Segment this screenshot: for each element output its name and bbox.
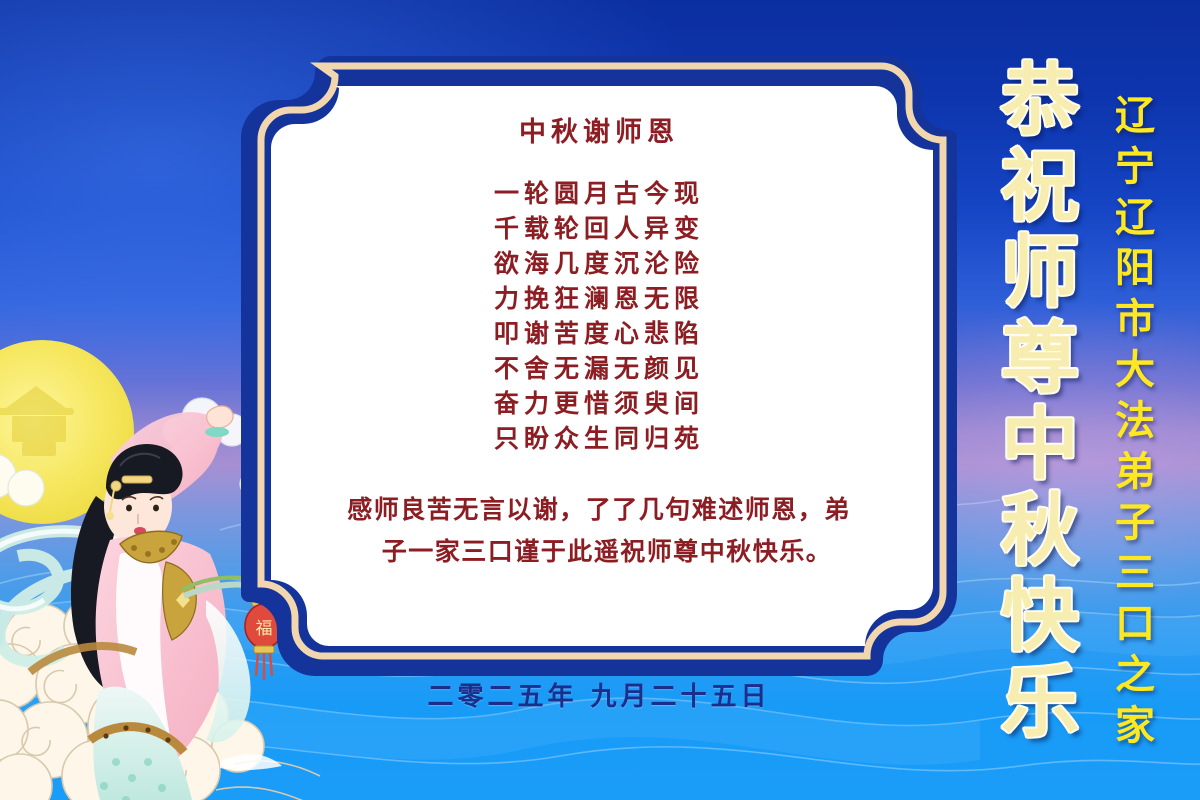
poem-line-1: 一轮圆月古今现	[494, 177, 704, 210]
poem-line-5: 叩谢苦度心悲陷	[494, 317, 704, 350]
sender-char-2: 宁	[1115, 147, 1155, 187]
greeting-char-7: 快	[1001, 578, 1079, 656]
sender-char-4: 阳	[1115, 248, 1155, 288]
prose-line-1: 感师良苦无言以谢，了了几句难述师恩，弟	[284, 489, 914, 531]
greeting-char-8: 乐	[1001, 664, 1079, 742]
poem-line-4: 力挽狂澜恩无限	[494, 282, 704, 315]
sender-char-6: 大	[1115, 350, 1155, 390]
prose-message: 感师良苦无言以谢，了了几句难述师恩，弟 子一家三口谨于此遥祝师尊中秋快乐。	[284, 489, 914, 573]
sender-char-12: 之	[1115, 655, 1155, 695]
poem-line-8: 只盼众生同归苑	[494, 422, 704, 455]
white-wisp	[220, 754, 282, 770]
sender-signature: 辽 宁 辽 阳 市 大 法 弟 子 三 口 之 家	[1106, 96, 1164, 746]
sender-char-9: 子	[1115, 503, 1155, 543]
poem-line-6: 不舍无漏无颜见	[494, 352, 704, 385]
hand	[207, 406, 233, 428]
greeting-char-2: 祝	[1001, 148, 1079, 226]
card-text-content: 中秋谢师恩 一轮圆月古今现 千载轮回人异变 欲海几度沉沦险 力挽狂澜恩无限 叩谢…	[277, 98, 921, 638]
message-card: 中秋谢师恩 一轮圆月古今现 千载轮回人异变 欲海几度沉沦险 力挽狂澜恩无限 叩谢…	[237, 52, 961, 680]
poem-line-2: 千载轮回人异变	[494, 212, 704, 245]
vertical-greeting: 恭 祝 师 尊 中 秋 快 乐	[988, 62, 1092, 742]
sender-char-3: 辽	[1115, 198, 1155, 238]
sender-char-10: 三	[1115, 553, 1155, 593]
date-text: 二零二五年 九月二十五日	[237, 676, 961, 713]
poem-body: 一轮圆月古今现 千载轮回人异变 欲海几度沉沦险 力挽狂澜恩无限 叩谢苦度心悲陷 …	[494, 177, 704, 455]
prose-line-2: 子一家三口谨于此遥祝师尊中秋快乐。	[284, 531, 914, 573]
greeting-char-5: 中	[1001, 406, 1079, 484]
sender-char-8: 弟	[1115, 452, 1155, 492]
greeting-char-6: 秋	[1001, 492, 1079, 570]
greeting-char-1: 恭	[1001, 62, 1079, 140]
sender-char-11: 口	[1115, 604, 1155, 644]
sender-char-13: 家	[1115, 706, 1155, 746]
sender-char-7: 法	[1115, 401, 1155, 441]
jade-bracelet	[205, 427, 229, 437]
greeting-card-image: 福 中秋谢师恩 一轮圆月古今现 千载轮回人异变 欲海几度沉沦险	[0, 0, 1200, 800]
poem-title: 中秋谢师恩	[519, 110, 679, 149]
poem-line-3: 欲海几度沉沦险	[494, 247, 704, 280]
greeting-char-4: 尊	[1001, 320, 1079, 398]
sender-char-5: 市	[1115, 299, 1155, 339]
sender-char-1: 辽	[1115, 96, 1155, 136]
poem-line-7: 奋力更惜须臾间	[494, 387, 704, 420]
greeting-char-3: 师	[1001, 234, 1079, 312]
